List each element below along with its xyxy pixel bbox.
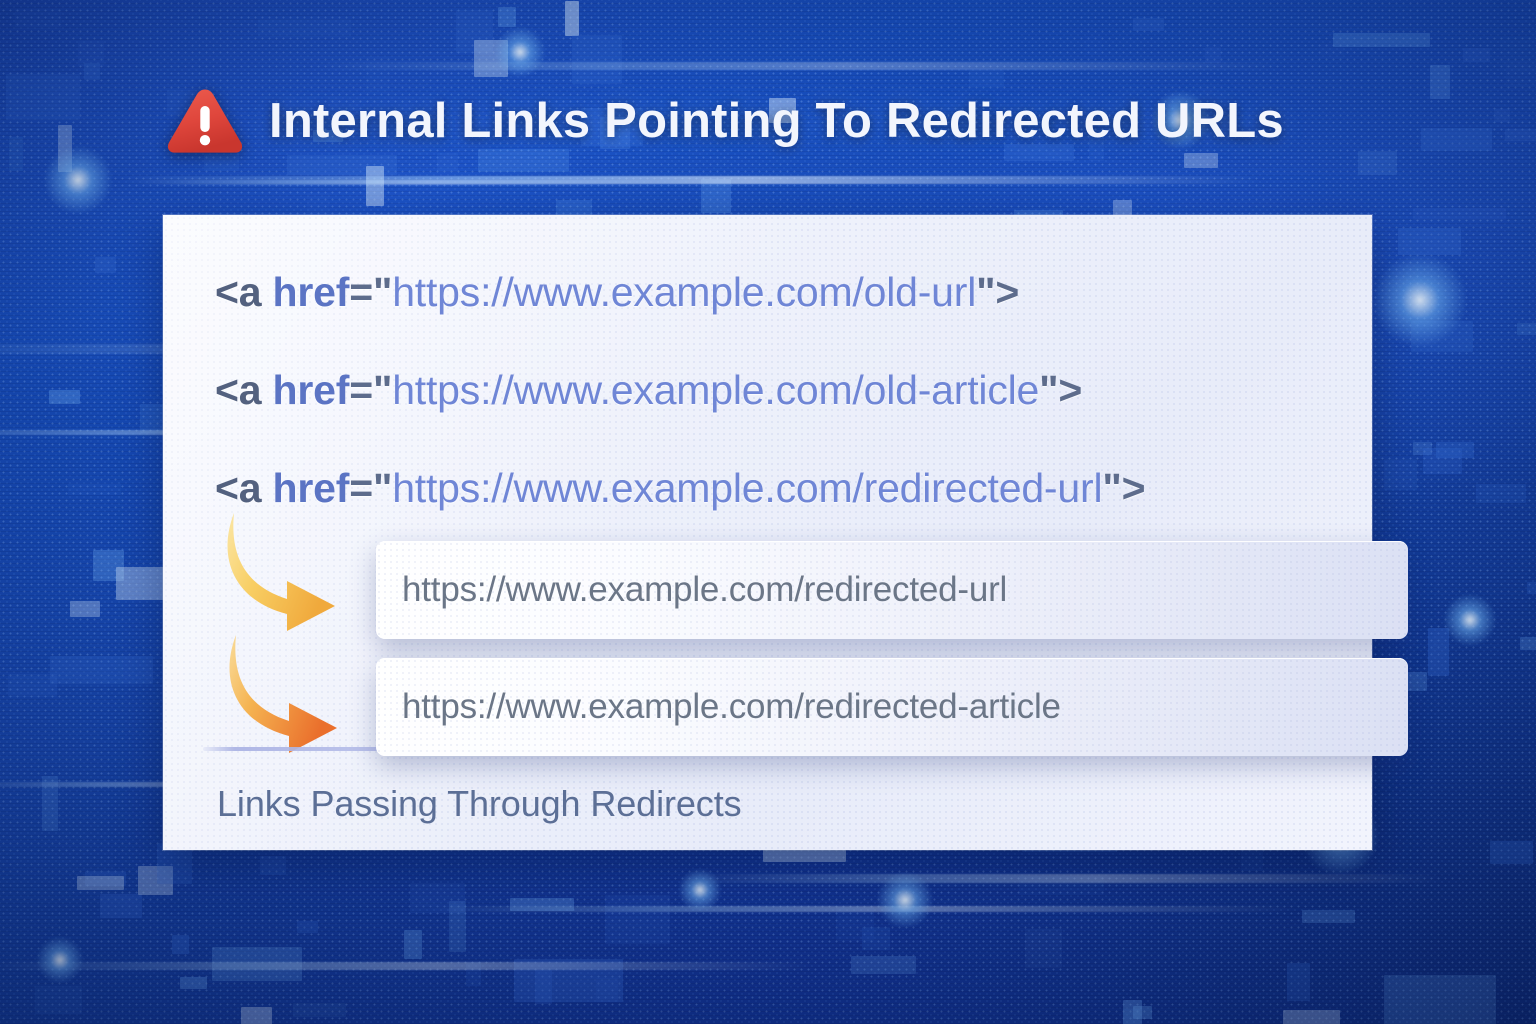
code-equals-quote: =" bbox=[349, 269, 392, 315]
code-line-2: <a href="https://www.example.com/old-art… bbox=[215, 367, 1082, 414]
code-equals-quote: =" bbox=[349, 367, 392, 413]
code-attr-href: href bbox=[273, 269, 350, 315]
code-close: "> bbox=[976, 269, 1019, 315]
code-panel: <a href="https://www.example.com/old-url… bbox=[163, 215, 1372, 850]
code-url: https://www.example.com/old-article bbox=[392, 367, 1039, 413]
warning-triangle-icon bbox=[163, 84, 247, 158]
code-line-1: <a href="https://www.example.com/old-url… bbox=[215, 269, 1019, 316]
code-tag-open: <a bbox=[215, 367, 273, 413]
code-tag-open: <a bbox=[215, 269, 273, 315]
page-header: Internal Links Pointing To Redirected UR… bbox=[163, 82, 1436, 160]
code-url: https://www.example.com/old-url bbox=[392, 269, 976, 315]
curved-arrow-orange bbox=[230, 635, 337, 753]
section-divider bbox=[203, 747, 379, 751]
code-url: https://www.example.com/redirected-url bbox=[392, 465, 1102, 511]
code-close: "> bbox=[1102, 465, 1145, 511]
code-attr-href: href bbox=[273, 367, 350, 413]
redirect-target-box-2[interactable]: https://www.example.com/redirected-artic… bbox=[376, 658, 1408, 756]
page-title: Internal Links Pointing To Redirected UR… bbox=[269, 93, 1284, 149]
redirect-target-box-1[interactable]: https://www.example.com/redirected-url bbox=[376, 541, 1408, 639]
code-close: "> bbox=[1039, 367, 1082, 413]
redirect-target-url: https://www.example.com/redirected-artic… bbox=[376, 687, 1061, 727]
curved-arrow-yellow bbox=[228, 513, 335, 631]
panel-caption: Links Passing Through Redirects bbox=[217, 783, 742, 825]
redirect-target-url: https://www.example.com/redirected-url bbox=[376, 570, 1007, 610]
